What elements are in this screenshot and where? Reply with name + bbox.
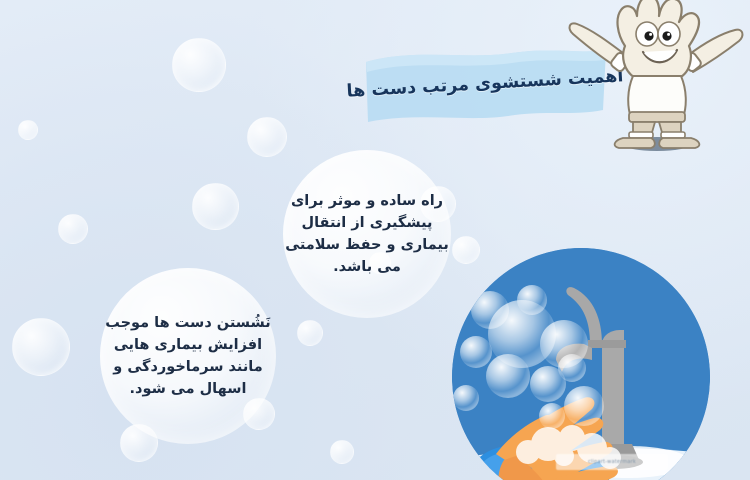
message-text-risk: نَشُستن دست ها موجب افزایش بیماری هایی م… [97, 312, 278, 400]
hand-mascot-icon [565, 0, 745, 154]
message-bubble-risk: نَشُستن دست ها موجب افزایش بیماری هایی م… [100, 268, 276, 444]
poster-canvas: اهمیت شستشوی مرتب دست ها [0, 0, 750, 480]
clipart-watermark: clipart-watermark [556, 454, 668, 470]
message-bubble-prevention: راه ساده و موثر برای پیشگیری از انتقال ب… [283, 150, 451, 318]
message-text-prevention: راه ساده و موثر برای پیشگیری از انتقال ب… [277, 190, 457, 278]
